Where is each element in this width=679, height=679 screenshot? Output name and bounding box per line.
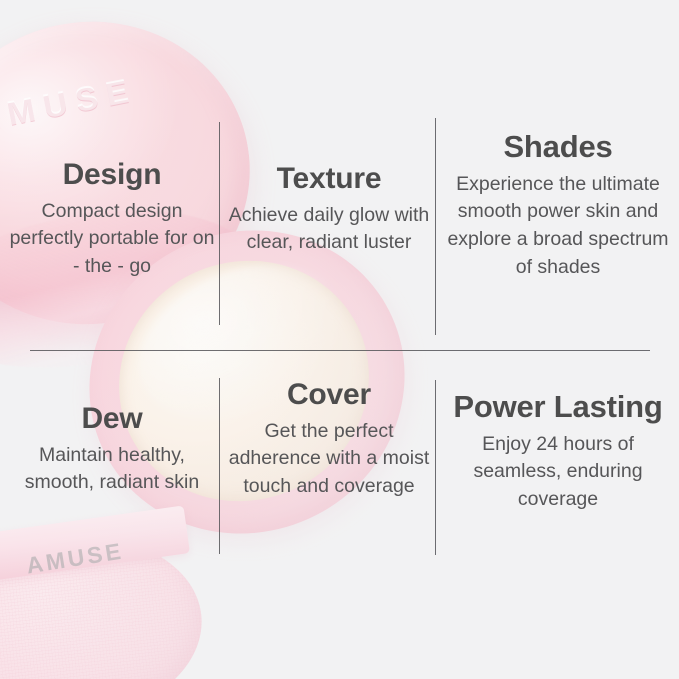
feature-description-texture: Achieve daily glow with clear, radiant l… bbox=[226, 202, 432, 257]
feature-description-power-lasting: Enjoy 24 hours of seamless, enduring cov… bbox=[442, 431, 674, 514]
feature-cell-texture: Texture Achieve daily glow with clear, r… bbox=[226, 162, 432, 257]
feature-cell-cover: Cover Get the perfect adherence with a m… bbox=[226, 378, 432, 501]
feature-title-design: Design bbox=[8, 158, 216, 192]
feature-description-shades: Experience the ultimate smooth power ski… bbox=[442, 171, 674, 282]
product-feature-infographic: AMUSE AMUSE Design Compact design perfec… bbox=[0, 0, 679, 679]
feature-grid: Design Compact design perfectly portable… bbox=[0, 0, 679, 679]
feature-description-cover: Get the perfect adherence with a moist t… bbox=[226, 418, 432, 501]
feature-cell-power-lasting: Power Lasting Enjoy 24 hours of seamless… bbox=[442, 390, 674, 514]
feature-cell-dew: Dew Maintain healthy, smooth, radiant sk… bbox=[8, 402, 216, 497]
feature-title-texture: Texture bbox=[226, 162, 432, 196]
feature-title-dew: Dew bbox=[8, 402, 216, 436]
feature-title-cover: Cover bbox=[226, 378, 432, 412]
feature-title-shades: Shades bbox=[442, 130, 674, 165]
feature-description-dew: Maintain healthy, smooth, radiant skin bbox=[8, 442, 216, 497]
feature-description-design: Compact design perfectly portable for on… bbox=[8, 198, 216, 281]
feature-cell-shades: Shades Experience the ultimate smooth po… bbox=[442, 130, 674, 281]
feature-title-power-lasting: Power Lasting bbox=[442, 390, 674, 425]
feature-cell-design: Design Compact design perfectly portable… bbox=[8, 158, 216, 281]
